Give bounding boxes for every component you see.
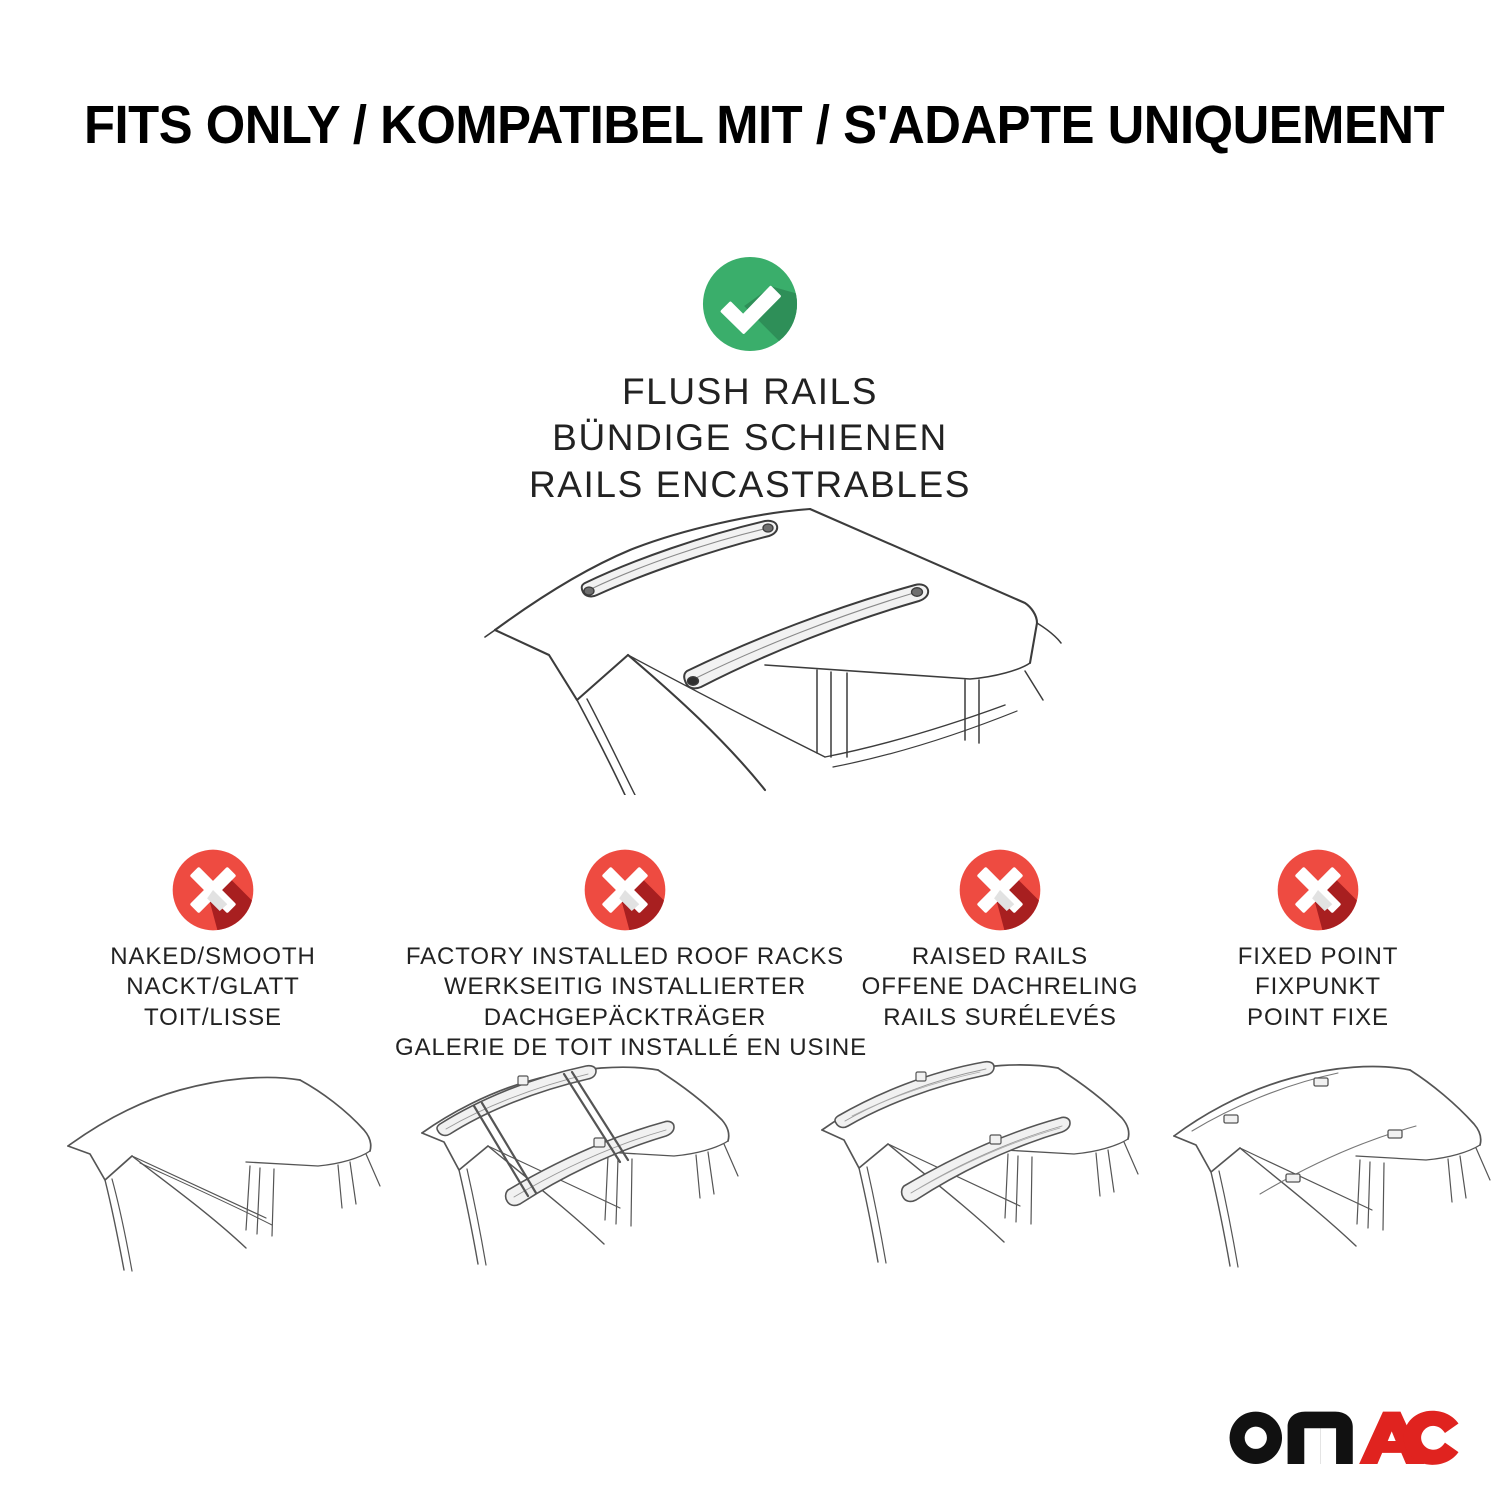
- incompatible-label-group: FIXED POINT FIXPUNKT POINT FIXE: [1168, 942, 1468, 1033]
- incompatible-label-en: RAISED RAILS: [840, 942, 1160, 972]
- incompatible-label-fr: TOIT/LISSE: [43, 1003, 383, 1033]
- incompatible-label-fr: POINT FIXE: [1168, 1003, 1468, 1033]
- cross-circle-icon: [583, 848, 667, 932]
- cross-circle-icon: [1276, 848, 1360, 932]
- fixed-point-illustration: [1162, 1058, 1500, 1298]
- compatible-label-en: FLUSH RAILS: [0, 369, 1500, 415]
- incompatible-label-de: OFFENE DACHRELING: [840, 972, 1160, 1002]
- incompatible-label-en: FACTORY INSTALLED ROOF RACKS: [395, 942, 855, 972]
- incompatible-label-de: FIXPUNKT: [1168, 972, 1468, 1002]
- compatible-label-de: BÜNDIGE SCHIENEN: [0, 415, 1500, 461]
- incompatible-label-de-2: DACHGEPÄCKTRÄGER: [395, 1003, 855, 1033]
- raised-rails-illustration: [812, 1058, 1162, 1298]
- incompatible-column-factory-roof-racks: FACTORY INSTALLED ROOF RACKS WERKSEITIG …: [395, 848, 855, 1064]
- naked-smooth-roof-illustration: [60, 1058, 410, 1298]
- incompatible-label-en: FIXED POINT: [1168, 942, 1468, 972]
- incompatible-label-fr: RAILS SURÉLEVÉS: [840, 1003, 1160, 1033]
- page-title: FITS ONLY / KOMPATIBEL MIT / S'ADAPTE UN…: [84, 98, 1353, 152]
- check-circle-icon: [701, 255, 799, 353]
- incompatible-column-fixed-point: FIXED POINT FIXPUNKT POINT FIXE: [1168, 848, 1468, 1033]
- incompatible-column-naked-smooth: NAKED/SMOOTH NACKT/GLATT TOIT/LISSE: [43, 848, 383, 1033]
- incompatible-label-group: RAISED RAILS OFFENE DACHRELING RAILS SUR…: [840, 942, 1160, 1033]
- cross-circle-icon: [171, 848, 255, 932]
- omac-logo: [1224, 1406, 1462, 1468]
- incompatible-label-group: NAKED/SMOOTH NACKT/GLATT TOIT/LISSE: [43, 942, 383, 1033]
- cross-circle-icon: [958, 848, 1042, 932]
- incompatible-column-raised-rails: RAISED RAILS OFFENE DACHRELING RAILS SUR…: [840, 848, 1160, 1033]
- compatible-section: FLUSH RAILS BÜNDIGE SCHIENEN RAILS ENCAS…: [0, 255, 1500, 508]
- flush-rails-roof-illustration: [465, 495, 1065, 795]
- incompatible-label-de: NACKT/GLATT: [43, 972, 383, 1002]
- compatible-label-group: FLUSH RAILS BÜNDIGE SCHIENEN RAILS ENCAS…: [0, 369, 1500, 508]
- factory-roof-racks-illustration: [412, 1058, 762, 1298]
- incompatible-label-group: FACTORY INSTALLED ROOF RACKS WERKSEITIG …: [395, 942, 855, 1064]
- incompatible-label-de-1: WERKSEITIG INSTALLIERTER: [395, 972, 855, 1002]
- incompatible-label-en: NAKED/SMOOTH: [43, 942, 383, 972]
